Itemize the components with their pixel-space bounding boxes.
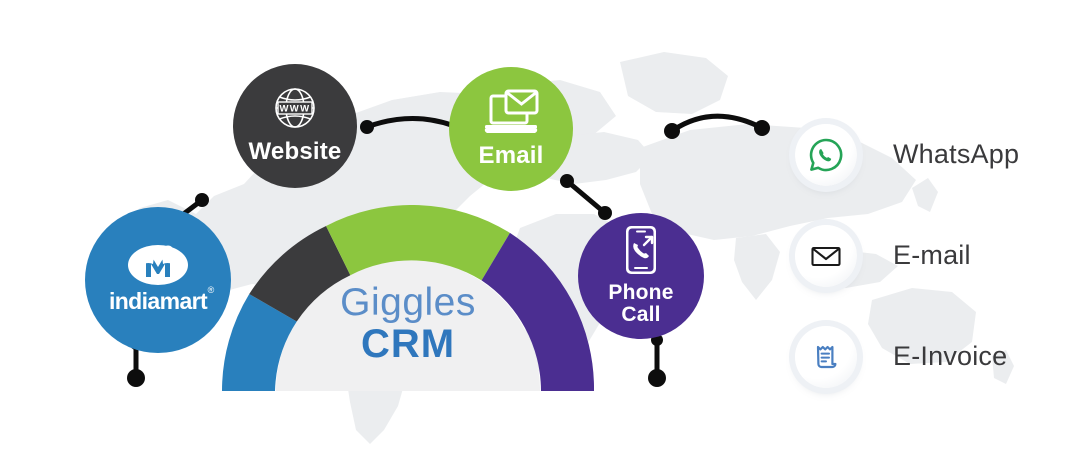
bubble-website[interactable]: WWW Website (233, 64, 357, 188)
invoice-receipt-icon (808, 339, 844, 375)
svg-text:®: ® (208, 285, 215, 295)
legend-label-einvoice: E-Invoice (893, 341, 1007, 372)
bubble-email[interactable]: Email (449, 67, 573, 191)
bubble-label-website: Website (249, 140, 342, 165)
legend-badge (795, 326, 857, 388)
envelope-icon (808, 238, 844, 274)
legend-badge (795, 124, 857, 186)
channel-legend: WhatsApp E-mail E-Invoice (795, 104, 1070, 407)
bubble-phone-call[interactable]: Phone Call (578, 213, 704, 339)
legend-label-whatsapp: WhatsApp (893, 139, 1019, 170)
globe-www-icon: WWW (270, 83, 320, 133)
indiamart-logo-icon: indiamart ® (99, 243, 217, 317)
svg-text:indiamart: indiamart (109, 288, 208, 314)
smartphone-outgoing-call-icon (622, 224, 660, 276)
legend-item-whatsapp[interactable]: WhatsApp (795, 104, 1070, 205)
legend-item-email[interactable]: E-mail (795, 205, 1070, 306)
laptop-envelope-icon (482, 87, 540, 137)
infographic-canvas: Giggles CRM indiamart ® (0, 0, 1080, 466)
legend-badge (795, 225, 857, 287)
bubble-label-phone-line2: Call (621, 304, 660, 326)
connector-website-email-line (367, 119, 457, 128)
bubble-indiamart[interactable]: indiamart ® (85, 207, 231, 353)
connector-top-right-line (672, 116, 762, 131)
bubble-label-email: Email (478, 144, 543, 169)
whatsapp-icon (808, 137, 844, 173)
legend-item-einvoice[interactable]: E-Invoice (795, 306, 1070, 407)
crm-gauge: Giggles CRM (222, 205, 594, 391)
www-text: WWW (279, 104, 310, 115)
bubble-label-phone-line1: Phone (608, 282, 673, 304)
legend-label-email: E-mail (893, 240, 971, 271)
